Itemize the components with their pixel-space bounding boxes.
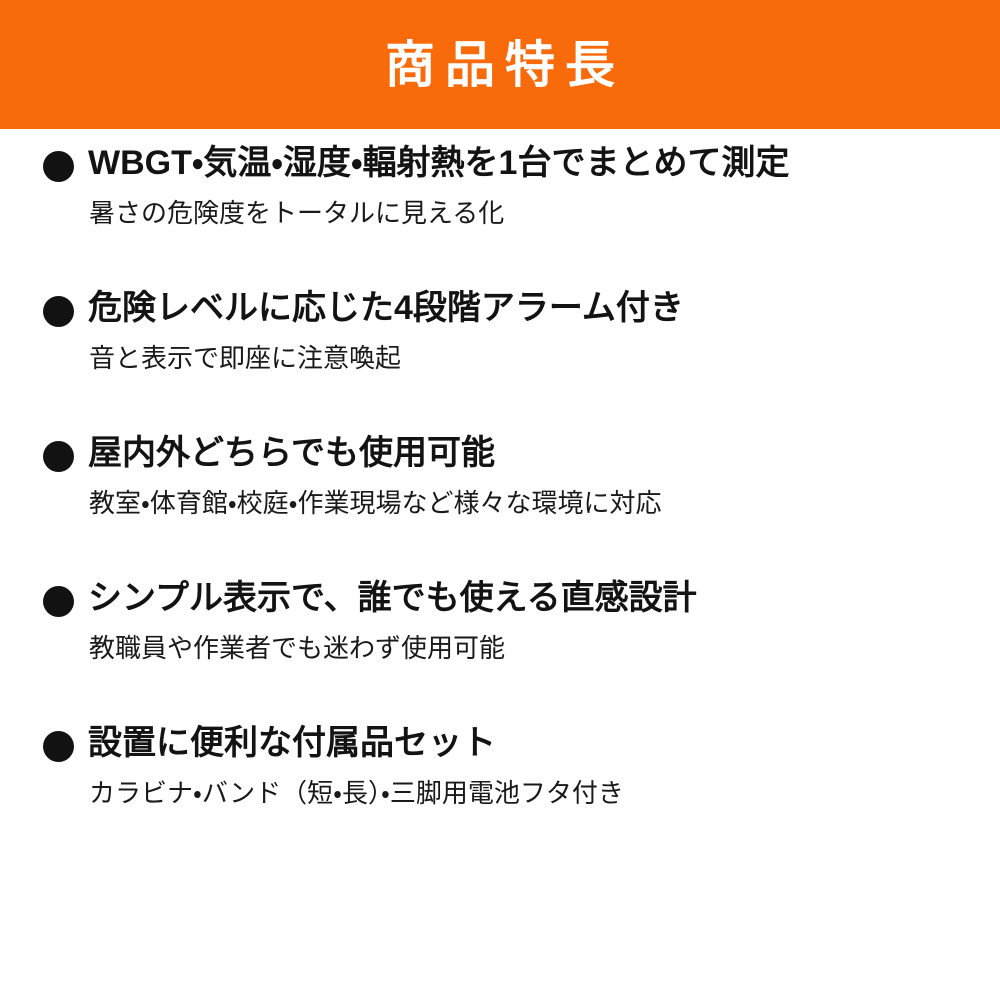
- bullet-dot-icon: [43, 151, 74, 182]
- header-banner: 商品特長: [0, 0, 1000, 129]
- feature-headline-row: 設置に便利な付属品セット: [0, 709, 1000, 765]
- feature-subline-text: 暑さの危険度をトータルに見える化: [89, 195, 504, 231]
- feature-headline-row: WBGT・気温・湿度・輻射熱を1台でまとめて測定: [0, 129, 1000, 185]
- feature-item: 設置に便利な付属品セット カラビナ・バンド（短・長）・三脚用電池フタ付き: [0, 709, 1000, 849]
- feature-item: 屋内外どちらでも使用可能 教室・体育館・校庭・作業現場など様々な環境に対応: [0, 419, 1000, 564]
- feature-headline-text: 屋内外どちらでも使用可能: [88, 431, 495, 475]
- feature-subline-text: カラビナ・バンド（短・長）・三脚用電池フタ付き: [89, 775, 624, 811]
- bullet-dot-icon: [43, 586, 74, 617]
- feature-headline-row: 危険レベルに応じた4段階アラーム付き: [0, 274, 1000, 330]
- feature-item: シンプル表示で、誰でも使える直感設計 教職員や作業者でも迷わず使用可能: [0, 564, 1000, 709]
- bullet-dot-icon: [43, 296, 74, 327]
- feature-subline-text: 教職員や作業者でも迷わず使用可能: [89, 630, 505, 666]
- product-features-page: 商品特長 WBGT・気温・湿度・輻射熱を1台でまとめて測定 暑さの危険度をトータ…: [0, 0, 1000, 1000]
- bullet-dot-icon: [43, 441, 74, 472]
- feature-headline-row: 屋内外どちらでも使用可能: [0, 419, 1000, 475]
- feature-list: WBGT・気温・湿度・輻射熱を1台でまとめて測定 暑さの危険度をトータルに見える…: [0, 129, 1000, 849]
- feature-headline-text: WBGT・気温・湿度・輻射熱を1台でまとめて測定: [88, 141, 789, 185]
- feature-headline-text: シンプル表示で、誰でも使える直感設計: [88, 576, 697, 620]
- feature-headline-text: 設置に便利な付属品セット: [88, 721, 496, 765]
- bullet-dot-icon: [43, 731, 74, 762]
- page-title: 商品特長: [375, 40, 625, 90]
- feature-subline-text: 音と表示で即座に注意喚起: [89, 340, 401, 376]
- feature-item: WBGT・気温・湿度・輻射熱を1台でまとめて測定 暑さの危険度をトータルに見える…: [0, 129, 1000, 274]
- feature-subline-text: 教室・体育館・校庭・作業現場など様々な環境に対応: [89, 485, 662, 521]
- feature-item: 危険レベルに応じた4段階アラーム付き 音と表示で即座に注意喚起: [0, 274, 1000, 419]
- feature-headline-row: シンプル表示で、誰でも使える直感設計: [0, 564, 1000, 620]
- feature-headline-text: 危険レベルに応じた4段階アラーム付き: [88, 286, 684, 330]
